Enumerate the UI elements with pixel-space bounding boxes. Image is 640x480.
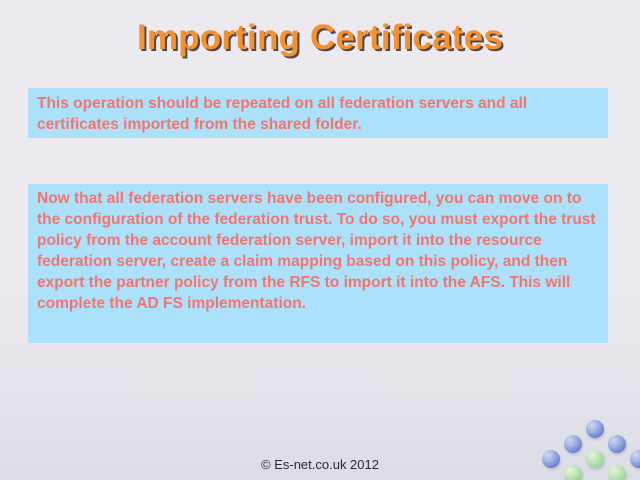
sphere-blue [586, 420, 604, 438]
callout-box-federation-trust: Now that all federation servers have bee… [28, 184, 608, 343]
page-title: Importing Certificates [0, 18, 640, 58]
footer-copyright: © Es-net.co.uk 2012 [0, 457, 640, 472]
sphere-blue [564, 435, 582, 453]
callout-text: Now that all federation servers have bee… [37, 188, 600, 314]
callout-box-repeat-operation: This operation should be repeated on all… [28, 88, 608, 138]
slide-canvas: Importing Certificates This operation sh… [0, 0, 640, 480]
callout-text: This operation should be repeated on all… [37, 93, 600, 135]
sphere-blue [608, 435, 626, 453]
